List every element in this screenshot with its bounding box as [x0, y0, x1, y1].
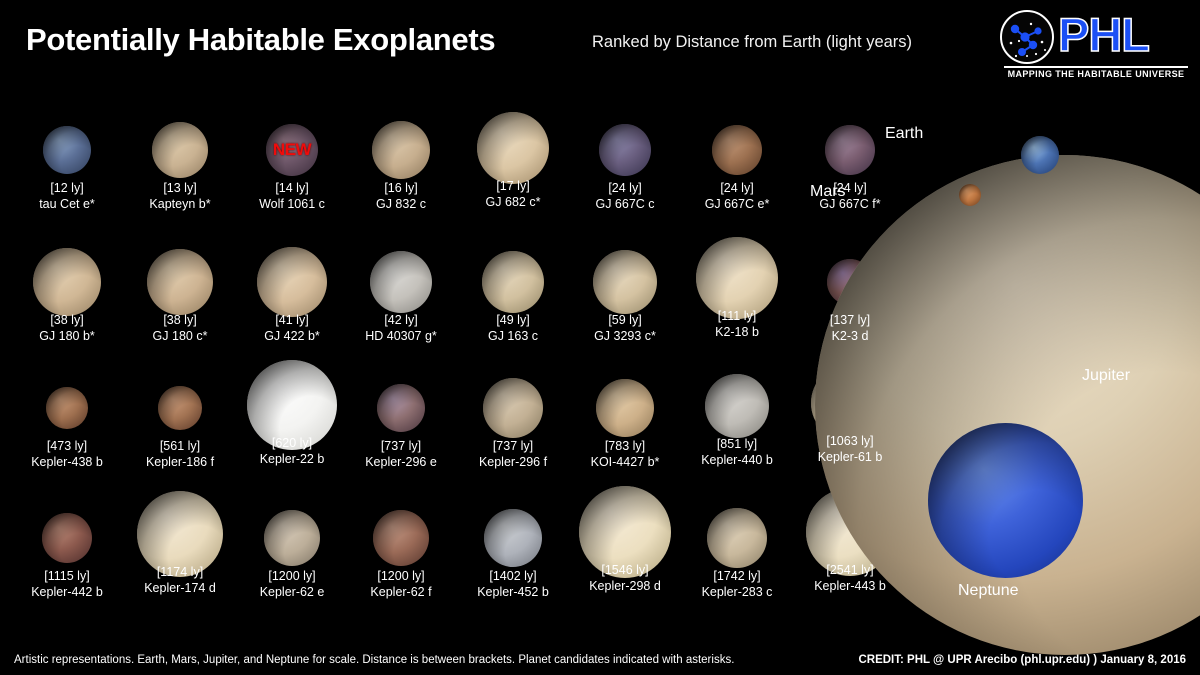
planet-label-group: [1402 ly]Kepler-452 b	[477, 568, 549, 600]
footer-credit: CREDIT: PHL @ UPR Arecibo (phl.upr.edu) …	[858, 654, 1186, 666]
planet-disc	[599, 124, 651, 176]
planet-label-group: [24 ly]GJ 667C e*	[705, 180, 770, 212]
scale-reference-panel: EarthMarsJupiterNeptune	[890, 95, 1200, 625]
planet-distance: [59 ly]	[594, 312, 656, 328]
planet-name: Kepler-442 b	[31, 584, 103, 600]
planet-distance: [14 ly]	[259, 180, 325, 196]
planet-name: GJ 163 c	[488, 328, 538, 344]
planet-label-group: [1115 ly]Kepler-442 b	[31, 568, 103, 600]
new-badge: NEW	[273, 140, 311, 160]
planet-distance: [1200 ly]	[260, 568, 325, 584]
planet-distance: [561 ly]	[146, 438, 214, 454]
planet-distance: [737 ly]	[479, 438, 547, 454]
planet-label-group: [42 ly]HD 40307 g*	[365, 312, 437, 344]
planet-name: GJ 180 b*	[39, 328, 95, 344]
planet-label-group: [12 ly]tau Cet e*	[39, 180, 95, 212]
planet-name: Kepler-283 c	[702, 584, 773, 600]
planet-label-group: [737 ly]Kepler-296 e	[365, 438, 437, 470]
planet-disc	[372, 121, 430, 179]
planet-label-group: [1200 ly]Kepler-62 e	[260, 568, 325, 600]
network-nodes-circle-icon	[1000, 10, 1054, 64]
planet-distance: [24 ly]	[705, 180, 770, 196]
planet-name: GJ 682 c*	[486, 194, 541, 210]
planet-name: K2-18 b	[715, 324, 759, 340]
planet-name: GJ 3293 c*	[594, 328, 656, 344]
planet-label-group: [41 ly]GJ 422 b*	[264, 312, 320, 344]
planet-label-group: [137 ly]K2-3 d	[830, 312, 870, 344]
planet-label-group: [1742 ly]Kepler-283 c	[702, 568, 773, 600]
planet-label-group: [16 ly]GJ 832 c	[376, 180, 426, 212]
planet-disc	[46, 387, 88, 429]
planet-name: GJ 667C c	[595, 196, 654, 212]
planet-distance: [24 ly]	[595, 180, 654, 196]
phl-logo: PHL MAPPING THE HABITABLE UNIVERSE	[992, 8, 1192, 82]
planet-name: Kepler-174 d	[144, 580, 216, 596]
planet-disc	[596, 379, 654, 437]
planet-disc	[373, 510, 429, 566]
planet-disc	[483, 378, 543, 438]
planet-disc	[377, 384, 425, 432]
planet-disc	[696, 237, 778, 319]
planet-disc	[712, 125, 762, 175]
planet-disc	[257, 247, 327, 317]
planet-name: GJ 422 b*	[264, 328, 320, 344]
planet-disc	[152, 122, 208, 178]
planet-label-group: [59 ly]GJ 3293 c*	[594, 312, 656, 344]
planet-disc	[705, 374, 769, 438]
planet-distance: [473 ly]	[31, 438, 103, 454]
logo-tagline: MAPPING THE HABITABLE UNIVERSE	[1004, 69, 1188, 79]
planet-name: Kepler-296 e	[365, 454, 437, 470]
planet-distance: [38 ly]	[39, 312, 95, 328]
planet-disc	[147, 249, 213, 315]
planet-label-group: [1200 ly]Kepler-62 f	[370, 568, 431, 600]
planet-name: K2-3 d	[830, 328, 870, 344]
reference-body-mars	[959, 184, 981, 206]
planet-distance: [49 ly]	[488, 312, 538, 328]
planet-distance: [13 ly]	[149, 180, 210, 196]
planet-label-group: [14 ly]Wolf 1061 c	[259, 180, 325, 212]
planet-name: HD 40307 g*	[365, 328, 437, 344]
planet-label-group: [13 ly]Kapteyn b*	[149, 180, 210, 212]
planet-name: Wolf 1061 c	[259, 196, 325, 212]
exoplanet-infographic: Potentially Habitable Exoplanets Ranked …	[0, 0, 1200, 675]
planet-name: Kepler-440 b	[701, 452, 773, 468]
planet-disc: NEW	[266, 124, 318, 176]
planet-disc	[825, 125, 875, 175]
reference-label-mars: Mars	[810, 183, 846, 201]
planet-distance: [1200 ly]	[370, 568, 431, 584]
planet-label-group: [24 ly]GJ 667C c	[595, 180, 654, 212]
reference-body-neptune	[928, 423, 1083, 578]
planet-distance: [17 ly]	[486, 178, 541, 194]
planet-distance: [12 ly]	[39, 180, 95, 196]
planet-label-group: [38 ly]GJ 180 b*	[39, 312, 95, 344]
planet-label-group: [783 ly]KOI-4427 b*	[591, 438, 660, 470]
planet-distance: [1402 ly]	[477, 568, 549, 584]
planet-label-group: [49 ly]GJ 163 c	[488, 312, 538, 344]
planet-disc	[477, 112, 549, 184]
planet-label-group: [17 ly]GJ 682 c*	[486, 178, 541, 210]
planet-distance: [38 ly]	[153, 312, 208, 328]
reference-label-jupiter: Jupiter	[1082, 367, 1130, 385]
planet-name: GJ 667C e*	[705, 196, 770, 212]
planet-name: Kapteyn b*	[149, 196, 210, 212]
planet-name: Kepler-438 b	[31, 454, 103, 470]
planet-distance: [1063 ly]	[818, 433, 883, 449]
planet-disc	[482, 251, 544, 313]
planet-name: KOI-4427 b*	[591, 454, 660, 470]
planet-label-group: [737 ly]Kepler-296 f	[479, 438, 547, 470]
planet-label-group: [561 ly]Kepler-186 f	[146, 438, 214, 470]
planet-disc	[158, 386, 202, 430]
planet-label-group: [1546 ly]Kepler-298 d	[589, 562, 661, 594]
footer-note: Artistic representations. Earth, Mars, J…	[14, 654, 734, 666]
planet-distance: [783 ly]	[591, 438, 660, 454]
planet-label-group: [2541 ly]Kepler-443 b	[814, 562, 886, 594]
planet-disc	[484, 509, 542, 567]
planet-distance: [41 ly]	[264, 312, 320, 328]
planet-name: Kepler-186 f	[146, 454, 214, 470]
planet-name: Kepler-61 b	[818, 449, 883, 465]
planet-distance: [42 ly]	[365, 312, 437, 328]
planet-distance: [851 ly]	[701, 436, 773, 452]
logo-divider	[1004, 66, 1188, 68]
planet-distance: [620 ly]	[260, 435, 325, 451]
reference-label-neptune: Neptune	[958, 582, 1019, 600]
planet-name: Kepler-298 d	[589, 578, 661, 594]
planet-label-group: [473 ly]Kepler-438 b	[31, 438, 103, 470]
planet-name: Kepler-62 e	[260, 584, 325, 600]
planet-name: GJ 180 c*	[153, 328, 208, 344]
planet-disc	[43, 126, 91, 174]
planet-name: Kepler-22 b	[260, 451, 325, 467]
reference-body-earth	[1021, 136, 1059, 174]
planet-distance: [111 ly]	[715, 308, 759, 324]
phl-logo-text: PHL	[1058, 6, 1149, 64]
planet-disc	[370, 251, 432, 313]
planet-name: Kepler-443 b	[814, 578, 886, 594]
planet-name: tau Cet e*	[39, 196, 95, 212]
planet-name: Kepler-452 b	[477, 584, 549, 600]
planet-distance: [1115 ly]	[31, 568, 103, 584]
reference-label-earth: Earth	[885, 125, 923, 143]
planet-name: GJ 832 c	[376, 196, 426, 212]
planet-disc	[593, 250, 657, 314]
planet-label-group: [38 ly]GJ 180 c*	[153, 312, 208, 344]
planet-distance: [737 ly]	[365, 438, 437, 454]
planet-distance: [1174 ly]	[144, 564, 216, 580]
planet-distance: [2541 ly]	[814, 562, 886, 578]
planet-distance: [137 ly]	[830, 312, 870, 328]
planet-label-group: [620 ly]Kepler-22 b	[260, 435, 325, 467]
planet-label-group: [111 ly]K2-18 b	[715, 308, 759, 340]
planet-disc	[33, 248, 101, 316]
planet-name: Kepler-296 f	[479, 454, 547, 470]
planet-grid: [12 ly]tau Cet e*[13 ly]Kapteyn b*NEW[14…	[0, 0, 900, 640]
planet-disc	[264, 510, 320, 566]
planet-label-group: [1174 ly]Kepler-174 d	[144, 564, 216, 596]
planet-label-group: [1063 ly]Kepler-61 b	[818, 433, 883, 465]
planet-disc	[42, 513, 92, 563]
planet-distance: [1546 ly]	[589, 562, 661, 578]
planet-label-group: [851 ly]Kepler-440 b	[701, 436, 773, 468]
planet-distance: [1742 ly]	[702, 568, 773, 584]
planet-name: Kepler-62 f	[370, 584, 431, 600]
planet-disc	[707, 508, 767, 568]
planet-distance: [16 ly]	[376, 180, 426, 196]
